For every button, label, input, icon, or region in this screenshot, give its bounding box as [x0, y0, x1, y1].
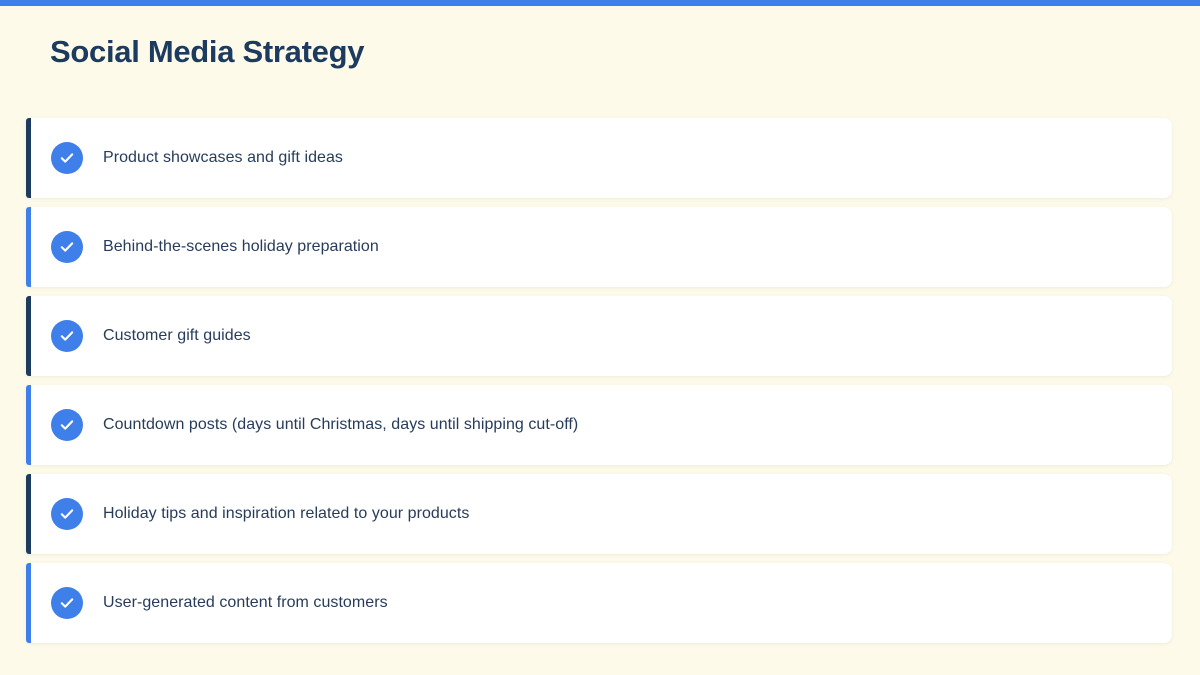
list-item[interactable]: Customer gift guides — [26, 296, 1172, 376]
list-item-label: User-generated content from customers — [103, 592, 388, 614]
list-item[interactable]: Product showcases and gift ideas — [26, 118, 1172, 198]
list-item-label: Holiday tips and inspiration related to … — [103, 503, 469, 525]
check-circle-icon — [51, 320, 83, 352]
checklist: Product showcases and gift ideas Behind-… — [26, 118, 1172, 652]
list-item[interactable]: Behind-the-scenes holiday preparation — [26, 207, 1172, 287]
check-circle-icon — [51, 498, 83, 530]
list-item-label: Behind-the-scenes holiday preparation — [103, 236, 379, 258]
check-circle-icon — [51, 587, 83, 619]
slide-page: Social Media Strategy Product showcases … — [0, 0, 1200, 675]
list-item[interactable]: Holiday tips and inspiration related to … — [26, 474, 1172, 554]
list-item-label: Customer gift guides — [103, 325, 251, 347]
check-circle-icon — [51, 231, 83, 263]
slide-content: Social Media Strategy Product showcases … — [0, 6, 1200, 675]
list-item-label: Countdown posts (days until Christmas, d… — [103, 414, 578, 436]
check-circle-icon — [51, 409, 83, 441]
page-title: Social Media Strategy — [0, 6, 1200, 72]
list-item-label: Product showcases and gift ideas — [103, 147, 343, 169]
list-item[interactable]: User-generated content from customers — [26, 563, 1172, 643]
list-item[interactable]: Countdown posts (days until Christmas, d… — [26, 385, 1172, 465]
check-circle-icon — [51, 142, 83, 174]
